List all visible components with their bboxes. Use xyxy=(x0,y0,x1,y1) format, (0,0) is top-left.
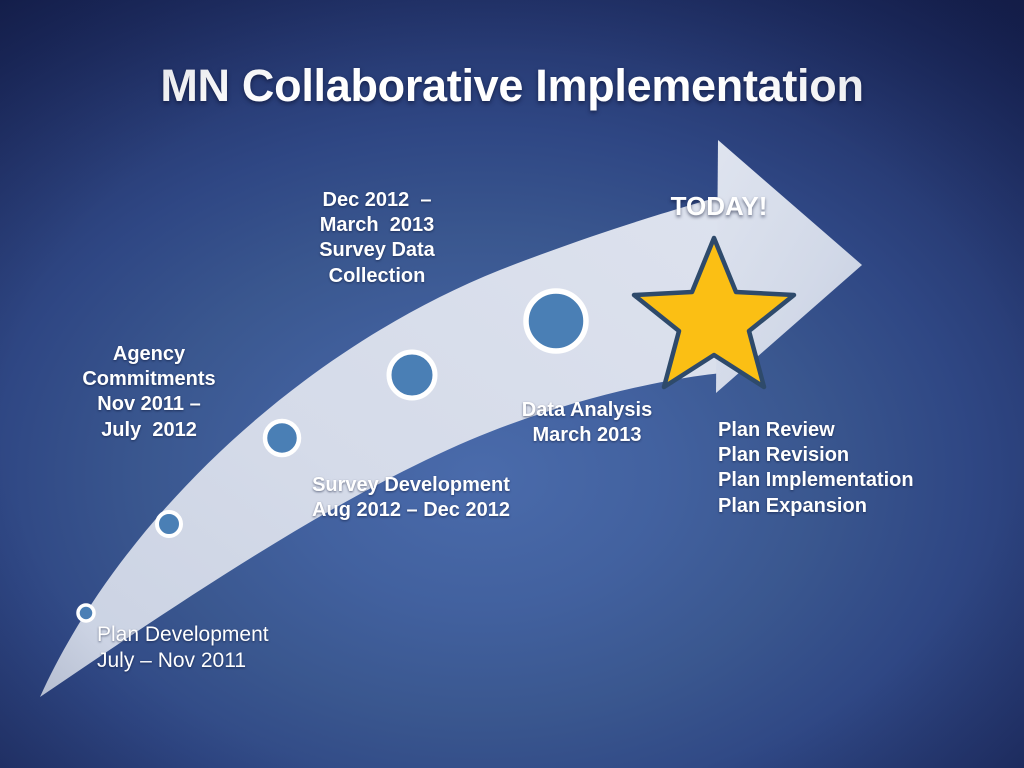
milestone-dot-plan-development[interactable] xyxy=(78,605,94,621)
milestone-dot-survey-data-collection[interactable] xyxy=(389,352,435,398)
milestone-dot-survey-development[interactable] xyxy=(265,421,299,455)
today-label: TODAY! xyxy=(629,190,809,223)
milestone-label-agency-commitments: Agency Commitments Nov 2011 – July 2012 xyxy=(34,342,264,443)
slide-canvas: MN Collaborative Implementation TODAY! D… xyxy=(0,0,1024,768)
milestone-label-survey-data-collection: Dec 2012 – March 2013 Survey Data Collec… xyxy=(272,188,482,289)
milestone-label-data-analysis: Data Analysis March 2013 xyxy=(487,398,687,448)
milestone-dot-agency-commitments[interactable] xyxy=(157,512,181,536)
milestone-label-plan-development: Plan Development July – Nov 2011 xyxy=(97,622,397,675)
milestone-label-plan-phases: Plan Review Plan Revision Plan Implement… xyxy=(718,418,988,519)
milestone-label-survey-development: Survey Development Aug 2012 – Dec 2012 xyxy=(286,473,536,523)
milestone-dot-data-analysis[interactable] xyxy=(526,291,586,351)
page-title: MN Collaborative Implementation xyxy=(0,58,1024,115)
